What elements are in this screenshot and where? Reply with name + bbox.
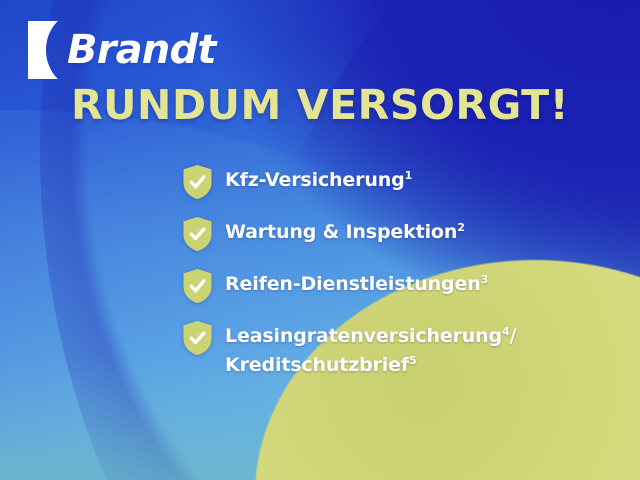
benefit-text: Reifen-Dienstleistungen — [225, 273, 481, 295]
shield-check-icon — [182, 164, 213, 200]
list-item-label: Leasingratenversicherung4/Kreditschutzbr… — [225, 322, 516, 380]
list-item: Kfz-Versicherung1 — [182, 166, 616, 200]
list-item: Reifen-Dienstleistungen3 — [182, 270, 616, 304]
poster-content: Brandt RUNDUM VERSORGT! Kfz-Versicherung… — [0, 0, 640, 480]
list-item-label: Wartung & Inspektion2 — [225, 218, 465, 247]
list-item-label: Reifen-Dienstleistungen3 — [225, 270, 488, 299]
benefit-list: Kfz-Versicherung1 Wartung & Inspektion2 … — [182, 166, 616, 380]
shield-check-icon — [182, 216, 213, 252]
brand-wordmark: Brandt — [67, 30, 216, 70]
benefit-footnote: 1 — [405, 169, 413, 182]
benefit-footnote: 2 — [457, 221, 465, 234]
shield-check-icon — [182, 320, 213, 356]
list-item: Wartung & Inspektion2 — [182, 218, 616, 252]
promo-poster: Brandt RUNDUM VERSORGT! Kfz-Versicherung… — [0, 0, 640, 480]
benefit-text: Leasingratenversicherung — [225, 325, 502, 347]
benefit-text: Wartung & Inspektion — [225, 221, 457, 243]
shield-check-icon — [182, 268, 213, 304]
benefit-text-second-line: Kreditschutzbrief — [225, 354, 409, 376]
list-item: Leasingratenversicherung4/Kreditschutzbr… — [182, 322, 616, 380]
benefit-text: Kfz-Versicherung — [225, 169, 405, 191]
benefit-footnote: 4 — [502, 325, 510, 338]
benefit-footnote-second: 5 — [409, 354, 417, 367]
page-title: RUNDUM VERSORGT! — [0, 84, 640, 127]
list-item-label: Kfz-Versicherung1 — [225, 166, 412, 195]
benefit-footnote: 3 — [481, 273, 489, 286]
brand-logo: Brandt — [28, 21, 216, 79]
bracket-arc-icon — [28, 21, 58, 79]
benefit-separator: / — [510, 325, 517, 347]
